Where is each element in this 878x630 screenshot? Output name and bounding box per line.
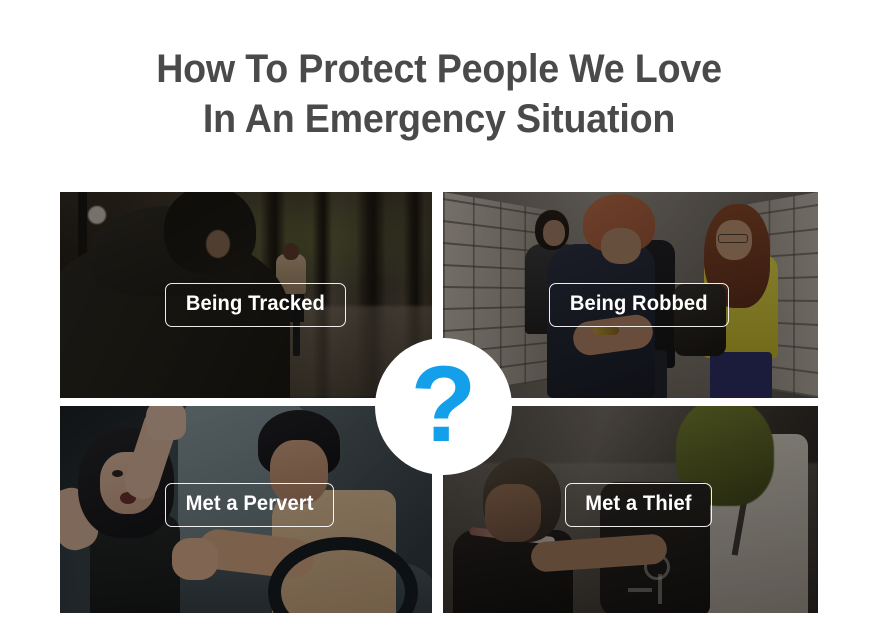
title-line-2: In An Emergency Situation (26, 94, 851, 144)
title-line-1: How To Protect People We Love (26, 44, 851, 94)
infographic-poster: How To Protect People We Love In An Emer… (0, 0, 878, 630)
label-badge-being-tracked: Being Tracked (165, 283, 346, 327)
label-badge-being-robbed: Being Robbed (549, 283, 729, 327)
label-text: Being Robbed (570, 293, 708, 315)
label-text: Being Tracked (186, 293, 325, 315)
question-mark-icon: ? (411, 350, 477, 458)
label-badge-met-a-pervert: Met a Pervert (165, 483, 334, 527)
page-title: How To Protect People We Love In An Emer… (0, 44, 878, 144)
center-question-badge: ? (375, 338, 512, 475)
label-text: Met a Pervert (186, 493, 314, 515)
panel-met-a-pervert[interactable]: Met a Pervert (60, 406, 432, 613)
label-badge-met-a-thief: Met a Thief (565, 483, 712, 527)
panel-being-tracked[interactable]: Being Tracked (60, 192, 432, 398)
label-text: Met a Thief (585, 493, 691, 515)
